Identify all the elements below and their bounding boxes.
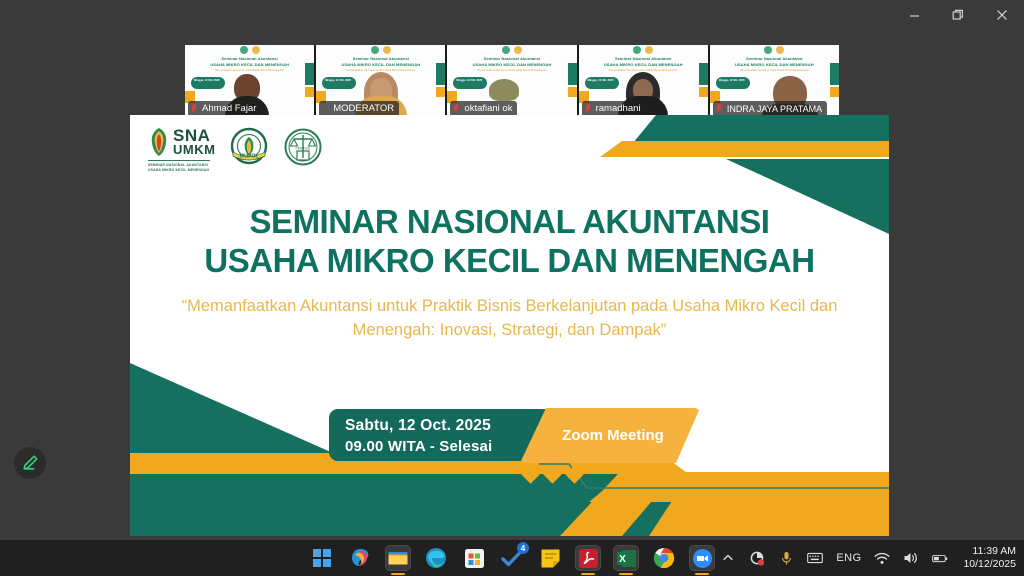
tile-emoji-row [371, 46, 391, 54]
tile-slide-heading: Seminar Nasional Akuntansi [458, 56, 567, 61]
tile-slide-chip: Minggu, 12 Okt. 2025 [716, 77, 750, 89]
tile-emoji-row [240, 46, 260, 54]
slide-platform-label: Zoom Meeting [562, 427, 664, 444]
tile-slide-heading: Seminar Nasional Akuntansi [195, 56, 304, 61]
mic-muted-icon [454, 104, 461, 113]
decor-outline-chevron [539, 460, 889, 506]
tile-decor-right [568, 63, 577, 85]
participant-tile[interactable]: Seminar Nasional Akuntansi USAHA MIKRO K… [710, 45, 839, 120]
battery-icon [932, 553, 948, 564]
sna-bird-icon [148, 127, 170, 157]
mic-muted-icon [717, 104, 724, 113]
tile-decor-right-2 [436, 87, 445, 97]
participant-tile-active[interactable]: Seminar Nasional Akuntansi USAHA MIKRO K… [316, 45, 445, 120]
chevron-up-icon [722, 552, 734, 564]
copilot-icon [349, 547, 371, 569]
slide-date: Sabtu, 12 Oct. 2025 [345, 417, 559, 435]
tile-slide-heading: Seminar Nasional Akuntansi [327, 56, 436, 61]
excel-button[interactable]: X [614, 546, 638, 570]
microphone-icon [780, 551, 793, 566]
tile-decor-right [830, 63, 839, 85]
edge-button[interactable] [424, 546, 448, 570]
mic-muted-icon [192, 104, 199, 113]
sticky-notes-button[interactable] [538, 546, 562, 570]
sticky-note-icon [540, 548, 561, 569]
tile-slide-sub: Memanfaatkan Akuntansi untuk Praktik Bis… [725, 69, 823, 73]
store-icon [464, 548, 485, 569]
recording-icon [750, 551, 765, 566]
zoom-icon [692, 548, 713, 569]
tile-slide-subheading: USAHA MIKRO KECIL DAN MENENGAH [458, 62, 567, 67]
tile-slide-heading: Seminar Nasional Akuntansi [589, 56, 698, 61]
tile-decor-right-2 [699, 87, 708, 97]
wifi-icon [874, 552, 890, 565]
annotate-button[interactable] [14, 447, 46, 479]
slide-date-chip: Sabtu, 12 Oct. 2025 09.00 WITA - Selesai [329, 409, 559, 461]
acrobat-button[interactable] [576, 546, 600, 570]
copilot-button[interactable] [348, 546, 372, 570]
slide-logos: SNA UMKM SEMINAR NASIONAL AKUNTANSI USAH… [148, 127, 323, 173]
chrome-button[interactable] [652, 546, 676, 570]
show-hidden-icons-button[interactable] [720, 550, 736, 566]
mic-muted-icon [586, 104, 593, 113]
sna-logo-line2: UMKM [173, 144, 215, 156]
windows-logo-icon [312, 548, 332, 568]
sna-umkm-logo: SNA UMKM SEMINAR NASIONAL AKUNTANSI USAH… [148, 127, 215, 173]
zoom-meeting-window: Seminar Nasional Akuntansi USAHA MIKRO K… [0, 0, 1024, 576]
participant-tile[interactable]: Seminar Nasional Akuntansi USAHA MIKRO K… [185, 45, 314, 120]
zoom-button[interactable] [690, 546, 714, 570]
tile-decor-right [436, 63, 445, 85]
tile-decor-right-2 [830, 87, 839, 97]
clock[interactable]: 11:39 AM 10/12/2025 [963, 545, 1016, 571]
start-button[interactable] [310, 546, 334, 570]
zoom-recording-tray-icon[interactable] [749, 550, 765, 566]
slide-title-line1: SEMINAR NASIONAL AKUNTANSI [130, 203, 889, 242]
svg-text:UNIPOL: UNIPOL [240, 153, 259, 159]
tile-decor-right [305, 63, 314, 85]
tile-decor-right-2 [305, 87, 314, 97]
tile-slide-subheading: USAHA MIKRO KECIL DAN MENENGAH [195, 62, 304, 67]
participant-tile[interactable]: Seminar Nasional Akuntansi USAHA MIKRO K… [579, 45, 708, 120]
tile-slide-chip: Minggu, 12 Okt. 2025 [322, 77, 356, 89]
tile-emoji-row [764, 46, 784, 54]
sna-logo-subtext: SEMINAR NASIONAL AKUNTANSI USAHA MIKRO K… [148, 160, 210, 173]
clock-time: 11:39 AM [972, 545, 1016, 558]
faculty-crest-icon: FINANCE [283, 127, 323, 167]
slide-title: SEMINAR NASIONAL AKUNTANSI USAHA MIKRO K… [130, 203, 889, 281]
window-title-bar [0, 0, 1024, 40]
minimize-button[interactable] [892, 0, 936, 30]
volume-button[interactable] [903, 550, 919, 566]
unipol-crest-icon: UNIPOL [229, 127, 269, 167]
excel-icon: X [616, 548, 637, 569]
faculty-crest-label: FINANCE [296, 147, 312, 151]
slide-title-line2: USAHA MIKRO KECIL DAN MENENGAH [130, 242, 889, 281]
tile-decor-right [699, 63, 708, 85]
edge-icon [425, 547, 447, 569]
tile-slide-sub: Memanfaatkan Akuntansi untuk Praktik Bis… [463, 69, 561, 73]
windows-taskbar: 4 X [0, 540, 1024, 576]
restore-button[interactable] [936, 0, 980, 30]
tile-decor-right-2 [568, 87, 577, 97]
tile-slide-subheading: USAHA MIKRO KECIL DAN MENENGAH [720, 62, 829, 67]
microsoft-store-button[interactable] [462, 546, 486, 570]
pencil-icon [21, 454, 39, 472]
todo-badge: 4 [517, 542, 529, 554]
participant-gallery-strip: Seminar Nasional Akuntansi USAHA MIKRO K… [185, 45, 839, 120]
todo-button[interactable]: 4 [500, 546, 524, 570]
touch-keyboard-button[interactable] [807, 550, 823, 566]
tile-slide-subheading: USAHA MIKRO KECIL DAN MENENGAH [589, 62, 698, 67]
battery-button[interactable] [932, 550, 948, 566]
speaker-icon [903, 551, 919, 565]
decor-top-orange-band [600, 141, 889, 157]
svg-text:X: X [619, 554, 626, 565]
tile-slide-chip: Minggu, 12 Okt. 2025 [585, 77, 619, 89]
chrome-icon [653, 547, 675, 569]
tile-emoji-row [633, 46, 653, 54]
decor-diamonds [524, 468, 581, 481]
participant-tile[interactable]: Seminar Nasional Akuntansi USAHA MIKRO K… [447, 45, 576, 120]
keyboard-icon [807, 552, 823, 564]
tile-slide-sub: Memanfaatkan Akuntansi untuk Praktik Bis… [201, 69, 299, 73]
shared-screen-slide[interactable]: SNA UMKM SEMINAR NASIONAL AKUNTANSI USAH… [130, 115, 889, 536]
tile-slide-chip: Minggu, 12 Okt. 2025 [191, 77, 225, 89]
slide-subtitle: “Memanfaatkan Akuntansi untuk Praktik Bi… [170, 295, 849, 343]
tile-slide-heading: Seminar Nasional Akuntansi [720, 56, 829, 61]
language-indicator[interactable]: ENG [836, 552, 861, 564]
close-button[interactable] [980, 0, 1024, 30]
tile-emoji-row [502, 46, 522, 54]
folder-icon [387, 548, 409, 568]
tile-slide-subheading: USAHA MIKRO KECIL DAN MENENGAH [327, 62, 436, 67]
system-tray: ENG [720, 540, 1016, 576]
microphone-tray-icon[interactable] [778, 550, 794, 566]
file-explorer-button[interactable] [386, 546, 410, 570]
slide-platform-chip: Zoom Meeting [520, 408, 700, 463]
wifi-button[interactable] [874, 550, 890, 566]
taskbar-app-row: 4 X [310, 540, 714, 576]
clock-date: 10/12/2025 [963, 558, 1016, 571]
acrobat-icon [578, 548, 599, 569]
